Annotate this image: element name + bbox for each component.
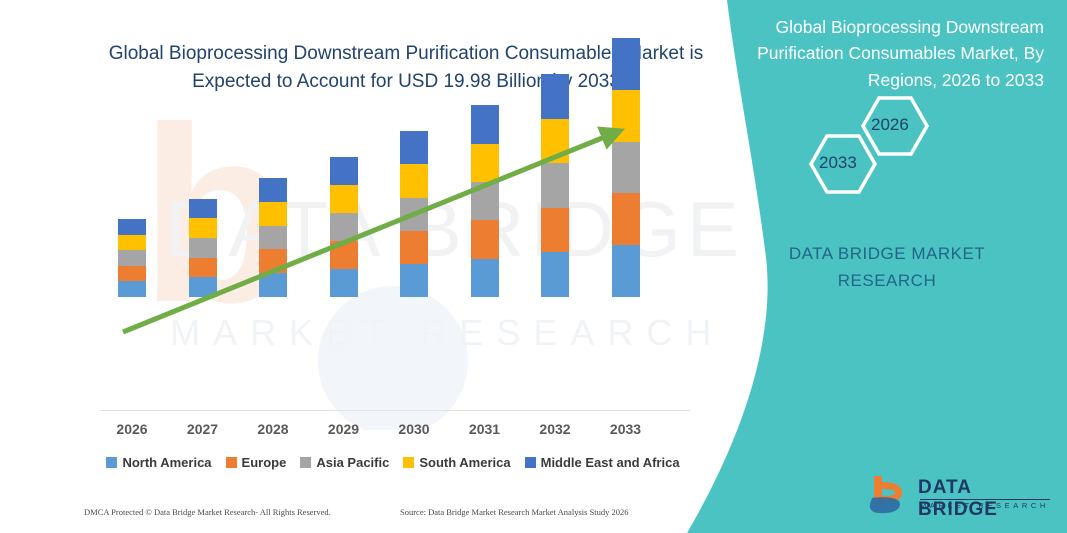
panel-brand-line2: RESEARCH <box>727 267 1047 294</box>
legend-swatch-icon <box>226 457 237 468</box>
legend-item-north-america[interactable]: North America <box>106 455 211 470</box>
x-axis-label-2029: 2029 <box>314 421 374 437</box>
legend-label: Middle East and Africa <box>541 455 680 470</box>
logo-mark-icon <box>866 472 914 520</box>
legend-swatch-icon <box>300 457 311 468</box>
x-axis-label-2030: 2030 <box>384 421 444 437</box>
x-axis-label-2031: 2031 <box>455 421 515 437</box>
hexagon-shapes <box>787 88 997 208</box>
x-axis-label-2028: 2028 <box>243 421 303 437</box>
hexagon-2033-label: 2033 <box>819 153 857 173</box>
legend-label: Asia Pacific <box>316 455 389 470</box>
legend-label: South America <box>419 455 510 470</box>
panel-title: Global Bioprocessing Downstream Purifica… <box>699 14 1044 93</box>
footer: DMCA Protected © Data Bridge Market Rese… <box>0 507 720 527</box>
legend-swatch-icon <box>403 457 414 468</box>
panel-content: Global Bioprocessing Downstream Purifica… <box>687 0 1067 533</box>
x-axis-label-2026: 2026 <box>102 421 162 437</box>
x-axis-label-2032: 2032 <box>525 421 585 437</box>
legend-label: Europe <box>242 455 287 470</box>
panel-brand-text: DATA BRIDGE MARKET RESEARCH <box>727 240 1047 294</box>
legend-item-europe[interactable]: Europe <box>226 455 287 470</box>
logo-divider <box>920 499 1050 500</box>
legend-item-south-america[interactable]: South America <box>403 455 510 470</box>
footer-copyright: DMCA Protected © Data Bridge Market Rese… <box>84 507 331 517</box>
side-panel: Global Bioprocessing Downstream Purifica… <box>687 0 1067 533</box>
legend-swatch-icon <box>525 457 536 468</box>
legend-swatch-icon <box>106 457 117 468</box>
logo-tagline: MARKET RESEARCH <box>920 501 1049 510</box>
x-axis-labels: 20262027202820292030203120322033 <box>0 421 720 445</box>
legend-label: North America <box>122 455 211 470</box>
hexagon-2026-label: 2026 <box>871 115 909 135</box>
data-bridge-logo: DATA BRIDGE MARKET RESEARCH <box>866 472 1056 524</box>
hexagon-group: 2026 2033 <box>787 88 997 208</box>
legend-item-asia-pacific[interactable]: Asia Pacific <box>300 455 389 470</box>
growth-arrow-icon <box>0 0 720 420</box>
footer-source: Source: Data Bridge Market Research Mark… <box>400 507 629 517</box>
panel-brand-line1: DATA BRIDGE MARKET <box>727 240 1047 267</box>
chart-area: Global Bioprocessing Downstream Purifica… <box>0 0 720 533</box>
legend-item-middle-east-and-africa[interactable]: Middle East and Africa <box>525 455 680 470</box>
x-axis-label-2027: 2027 <box>173 421 233 437</box>
x-axis-label-2033: 2033 <box>596 421 656 437</box>
infographic-page: b DATA BRIDGE MARKET RESEARCH Global Bio… <box>0 0 1067 533</box>
chart-legend: North AmericaEuropeAsia PacificSouth Ame… <box>98 455 688 470</box>
